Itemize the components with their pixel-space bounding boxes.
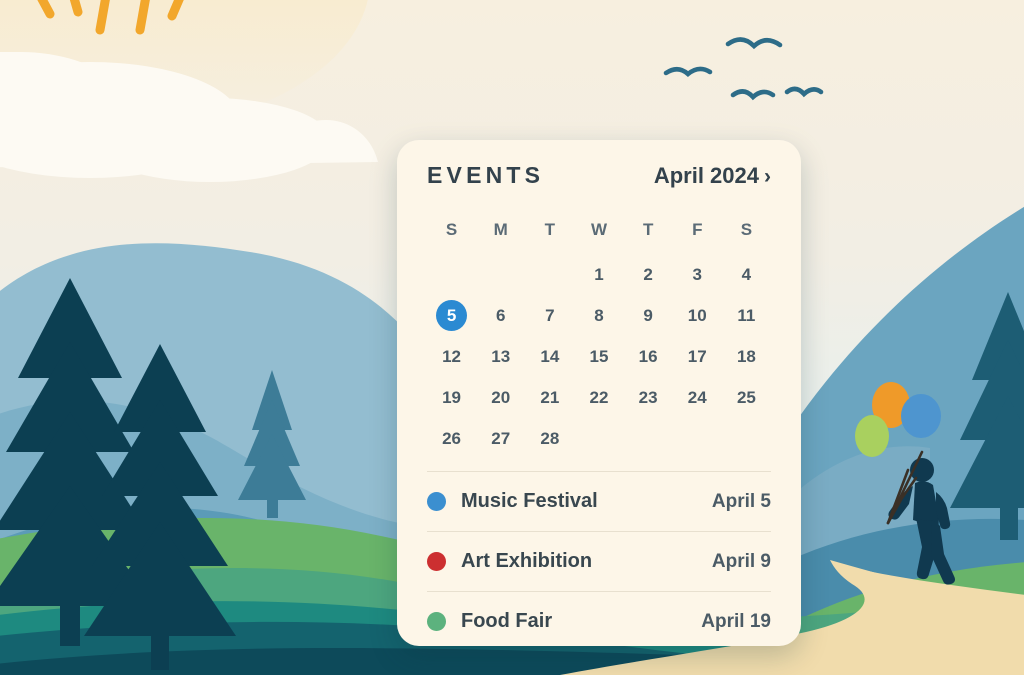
calendar-day-number: 13 bbox=[485, 341, 516, 372]
events-list: Music FestivalApril 5Art ExhibitionApril… bbox=[427, 471, 771, 651]
calendar-day-number: 1 bbox=[583, 259, 614, 290]
page-title: EVENTS bbox=[427, 162, 544, 189]
calendar-day-number: 6 bbox=[485, 300, 516, 331]
calendar-day-20[interactable]: 20 bbox=[476, 377, 525, 418]
card-header: EVENTS April 2024 › bbox=[427, 162, 771, 202]
calendar-day-number: 21 bbox=[534, 382, 565, 413]
weekday-label-3: W bbox=[574, 216, 623, 244]
calendar-day-number: 9 bbox=[633, 300, 664, 331]
calendar-day-25[interactable]: 25 bbox=[722, 377, 771, 418]
weekday-label-2: T bbox=[525, 216, 574, 244]
event-row[interactable]: Art ExhibitionApril 9 bbox=[427, 531, 771, 591]
calendar-day-number: 15 bbox=[583, 341, 614, 372]
event-name: Food Fair bbox=[461, 610, 701, 633]
calendar-day-12[interactable]: 12 bbox=[427, 336, 476, 377]
calendar-day-empty bbox=[525, 254, 574, 295]
calendar-week-row: 12131415161718 bbox=[427, 336, 771, 377]
event-name: Music Festival bbox=[461, 490, 712, 513]
event-name: Art Exhibition bbox=[461, 550, 712, 573]
calendar-day-1[interactable]: 1 bbox=[574, 254, 623, 295]
event-date: April 5 bbox=[712, 491, 771, 513]
calendar-day-number: 28 bbox=[534, 423, 565, 454]
calendar-day-empty bbox=[722, 418, 771, 459]
calendar-day-22[interactable]: 22 bbox=[574, 377, 623, 418]
calendar-day-number: 11 bbox=[731, 300, 762, 331]
calendar-day-empty bbox=[427, 254, 476, 295]
calendar-day-6[interactable]: 6 bbox=[476, 295, 525, 336]
event-row[interactable]: Food FairApril 19 bbox=[427, 591, 771, 651]
calendar-day-selected[interactable]: 5 bbox=[427, 295, 476, 336]
calendar-day-number: 4 bbox=[731, 259, 762, 290]
calendar-day-21[interactable]: 21 bbox=[525, 377, 574, 418]
events-calendar-card: EVENTS April 2024 › SMTWTFS 123456789101… bbox=[397, 140, 801, 646]
event-date: April 19 bbox=[701, 611, 771, 633]
calendar-day-number: 18 bbox=[731, 341, 762, 372]
event-color-dot-icon bbox=[427, 612, 446, 631]
calendar-day-empty bbox=[476, 254, 525, 295]
event-date: April 9 bbox=[712, 551, 771, 573]
calendar-day-number: 5 bbox=[436, 300, 467, 331]
calendar-day-27[interactable]: 27 bbox=[476, 418, 525, 459]
calendar-day-7[interactable]: 7 bbox=[525, 295, 574, 336]
calendar-day-number: 27 bbox=[485, 423, 516, 454]
calendar-day-number: 25 bbox=[731, 382, 762, 413]
calendar-day-number: 14 bbox=[534, 341, 565, 372]
weekday-label-4: T bbox=[624, 216, 673, 244]
calendar-day-number: 22 bbox=[583, 382, 614, 413]
calendar-day-19[interactable]: 19 bbox=[427, 377, 476, 418]
calendar-day-3[interactable]: 3 bbox=[673, 254, 722, 295]
calendar-week-row: 262728 bbox=[427, 418, 771, 459]
event-color-dot-icon bbox=[427, 552, 446, 571]
calendar-day-4[interactable]: 4 bbox=[722, 254, 771, 295]
weekday-header-row: SMTWTFS bbox=[427, 216, 771, 244]
calendar-day-number: 19 bbox=[436, 382, 467, 413]
event-row[interactable]: Music FestivalApril 5 bbox=[427, 471, 771, 531]
calendar-day-10[interactable]: 10 bbox=[673, 295, 722, 336]
calendar-day-number: 2 bbox=[633, 259, 664, 290]
calendar-day-16[interactable]: 16 bbox=[624, 336, 673, 377]
calendar-day-number: 20 bbox=[485, 382, 516, 413]
calendar-day-number: 10 bbox=[682, 300, 713, 331]
weekday-label-0: S bbox=[427, 216, 476, 244]
calendar-day-number: 7 bbox=[534, 300, 565, 331]
calendar-day-number: 24 bbox=[682, 382, 713, 413]
weekday-label-1: M bbox=[476, 216, 525, 244]
weekday-label-5: F bbox=[673, 216, 722, 244]
calendar-days-grid: 1234567891011121314151617181920212223242… bbox=[427, 254, 771, 459]
screenshot-root: EVENTS April 2024 › SMTWTFS 123456789101… bbox=[0, 0, 1024, 675]
calendar-day-14[interactable]: 14 bbox=[525, 336, 574, 377]
calendar-day-23[interactable]: 23 bbox=[624, 377, 673, 418]
calendar-day-13[interactable]: 13 bbox=[476, 336, 525, 377]
calendar-day-empty bbox=[574, 418, 623, 459]
calendar-day-number: 12 bbox=[436, 341, 467, 372]
calendar-day-26[interactable]: 26 bbox=[427, 418, 476, 459]
month-nav-button[interactable]: April 2024 › bbox=[654, 163, 771, 189]
chevron-right-icon: › bbox=[764, 166, 771, 187]
calendar-week-row: 1234 bbox=[427, 254, 771, 295]
calendar-day-17[interactable]: 17 bbox=[673, 336, 722, 377]
calendar-day-number: 3 bbox=[682, 259, 713, 290]
calendar-day-number: 16 bbox=[633, 341, 664, 372]
balloon-green bbox=[855, 415, 889, 457]
calendar-day-number: 8 bbox=[583, 300, 614, 331]
calendar-day-empty bbox=[673, 418, 722, 459]
calendar-day-9[interactable]: 9 bbox=[624, 295, 673, 336]
calendar-day-18[interactable]: 18 bbox=[722, 336, 771, 377]
calendar-day-28[interactable]: 28 bbox=[525, 418, 574, 459]
calendar-day-number: 17 bbox=[682, 341, 713, 372]
calendar-day-15[interactable]: 15 bbox=[574, 336, 623, 377]
calendar-day-number: 26 bbox=[436, 423, 467, 454]
calendar-day-number: 23 bbox=[633, 382, 664, 413]
calendar-week-row: 19202122232425 bbox=[427, 377, 771, 418]
calendar-week-row: 567891011 bbox=[427, 295, 771, 336]
calendar-day-24[interactable]: 24 bbox=[673, 377, 722, 418]
calendar-day-8[interactable]: 8 bbox=[574, 295, 623, 336]
balloon-blue bbox=[901, 394, 941, 438]
calendar-day-empty bbox=[624, 418, 673, 459]
weekday-label-6: S bbox=[722, 216, 771, 244]
month-label: April 2024 bbox=[654, 163, 759, 189]
event-color-dot-icon bbox=[427, 492, 446, 511]
calendar-day-11[interactable]: 11 bbox=[722, 295, 771, 336]
calendar-day-2[interactable]: 2 bbox=[624, 254, 673, 295]
